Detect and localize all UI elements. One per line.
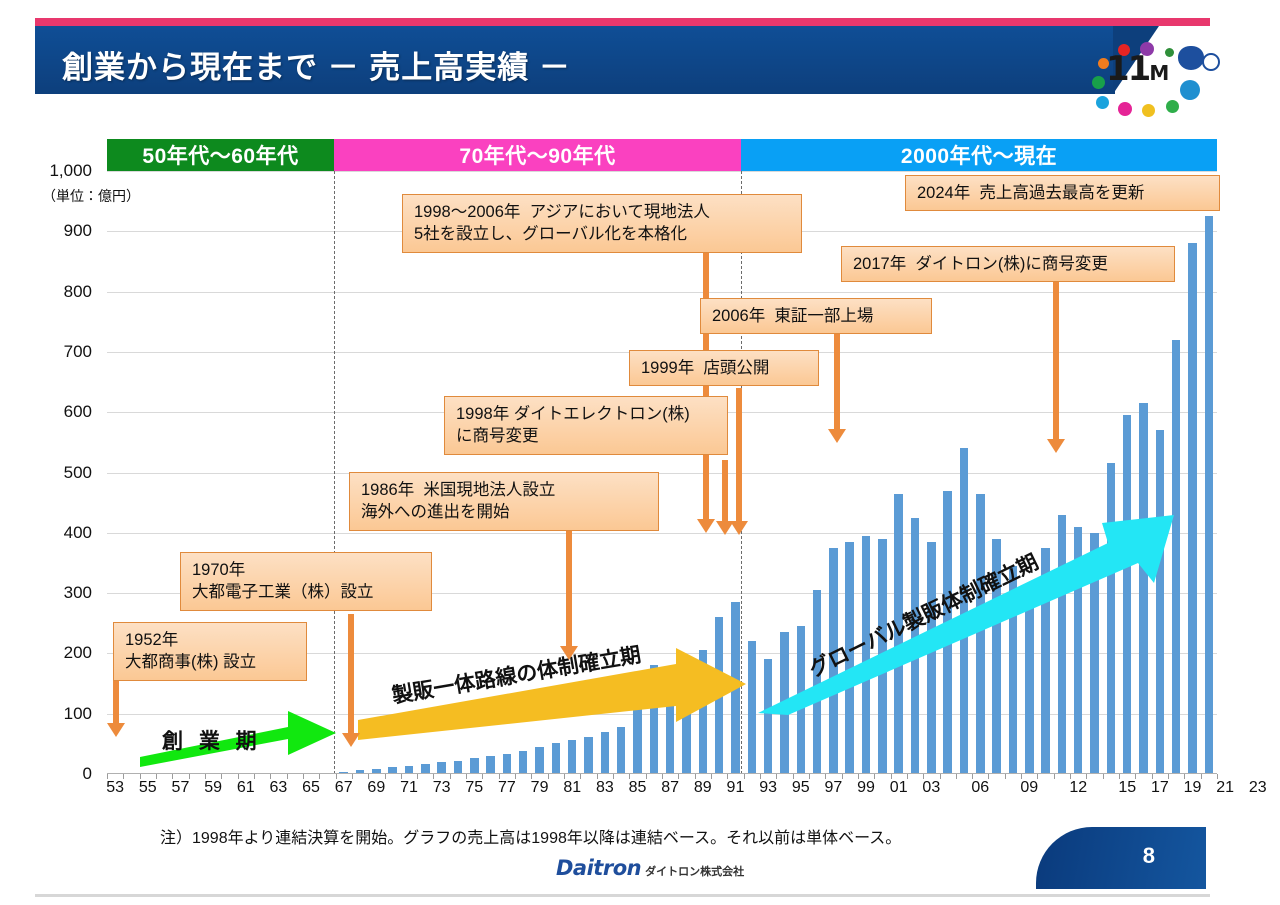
x-axis-tick-label: 61 xyxy=(237,779,255,797)
x-axis-tick-label: 17 xyxy=(1151,779,1169,797)
header-accent-bar xyxy=(35,18,1210,26)
x-axis-tick-label: 23 xyxy=(1249,779,1267,797)
era-label: 2000年代～現在 xyxy=(901,140,1057,170)
gridline xyxy=(107,171,1217,172)
phase-arrow-global: グローバル製販体制確立期 xyxy=(758,505,1178,720)
x-axis-tick-label: 79 xyxy=(531,779,549,797)
logo-dot-blue xyxy=(1180,80,1200,100)
slide: 創業から現在まで － 売上高実績 － 11M 50年代～60年代 70年代～90… xyxy=(0,0,1280,905)
x-axis-tick-label: 09 xyxy=(1020,779,1038,797)
footnote: 注）1998年より連結決算を開始。グラフの売上高は1998年以降は連結ベース。そ… xyxy=(160,824,901,848)
logo-dot-cyan xyxy=(1096,96,1109,109)
x-axis-tick-label: 19 xyxy=(1184,779,1202,797)
logo-wordmark: 11M xyxy=(1106,49,1167,89)
bar xyxy=(454,761,462,774)
callout-1998-asia[interactable]: 1998～2006年 アジアにおいて現地法人 5社を設立し、グローバル化を本格化 xyxy=(402,194,802,253)
leader-2006 xyxy=(834,334,840,430)
callout-1986[interactable]: 1986年 米国現地法人設立 海外への進出を開始 xyxy=(349,472,659,531)
bar xyxy=(535,747,543,774)
callout-1970[interactable]: 1970年 大都電子工業（株）設立 xyxy=(180,552,432,611)
era-label: 50年代～60年代 xyxy=(142,140,298,170)
callout-1952[interactable]: 1952年 大都商事(株) 設立 xyxy=(113,622,307,681)
leader-1998 xyxy=(722,460,728,522)
x-axis-tick-label: 85 xyxy=(629,779,647,797)
y-axis-tick-label: 900 xyxy=(2,221,92,241)
phase-label-founding: 創 業 期 xyxy=(162,725,262,755)
logo-dot-green xyxy=(1092,76,1105,89)
x-axis-tickmark xyxy=(1103,774,1104,779)
logo-mascot-ear xyxy=(1202,53,1220,71)
bar xyxy=(519,751,527,774)
x-axis-tick-label: 77 xyxy=(498,779,516,797)
y-axis-tick-label: 400 xyxy=(2,523,92,543)
footer-divider xyxy=(35,894,1210,897)
x-axis-tick-label: 65 xyxy=(302,779,320,797)
x-axis-tick-label: 57 xyxy=(172,779,190,797)
callout-1998[interactable]: 1998年 ダイトエレクトロン(株) に商号変更 xyxy=(444,396,728,455)
company-wordmark: Daitron xyxy=(556,856,641,880)
era-banner-1950s: 50年代～60年代 xyxy=(107,139,334,171)
x-axis-tick-label: 83 xyxy=(596,779,614,797)
company-name-jp: ダイトロン株式会社 xyxy=(645,866,744,878)
x-axis-tick-label: 53 xyxy=(106,779,124,797)
x-axis-tick-label: 99 xyxy=(857,779,875,797)
leader-1999 xyxy=(736,388,742,522)
page-title: 創業から現在まで － 売上高実績 － xyxy=(62,42,571,87)
y-axis-tick-label: 200 xyxy=(2,643,92,663)
x-axis-tick-label: 63 xyxy=(269,779,287,797)
logo-mascot-head xyxy=(1178,46,1204,70)
page-number-tab xyxy=(1036,827,1206,889)
x-axis-tick-label: 91 xyxy=(727,779,745,797)
x-axis-tick-label: 06 xyxy=(971,779,989,797)
x-axis-tick-label: 97 xyxy=(824,779,842,797)
x-axis-tick-label: 81 xyxy=(563,779,581,797)
y-axis-tick-label: 300 xyxy=(2,583,92,603)
gridline xyxy=(107,292,1217,293)
x-axis-tick-label: 93 xyxy=(759,779,777,797)
y-axis-tick-label: 1,000 xyxy=(2,161,92,181)
gridline xyxy=(107,473,1217,474)
y-axis-tick-label: 100 xyxy=(2,704,92,724)
era-banner-1970s: 70年代～90年代 xyxy=(334,139,741,171)
x-axis-tick-label: 75 xyxy=(465,779,483,797)
x-axis-tickmark xyxy=(956,774,957,779)
x-axis-tick-label: 71 xyxy=(400,779,418,797)
callout-1999[interactable]: 1999年 店頭公開 xyxy=(629,350,819,386)
x-axis-tick-label: 15 xyxy=(1118,779,1136,797)
x-axis-tick-label: 87 xyxy=(661,779,679,797)
x-axis-tick-label: 73 xyxy=(433,779,451,797)
bar xyxy=(748,641,756,774)
phase-arrow-seihan: 製販一体路線の体制確立期 xyxy=(358,648,748,745)
logo-dot-yellow xyxy=(1142,104,1155,117)
bar xyxy=(470,758,478,774)
x-axis-tick-label: 69 xyxy=(367,779,385,797)
x-axis-tick-label: 59 xyxy=(204,779,222,797)
logo-dot-magenta xyxy=(1118,102,1132,116)
bar xyxy=(503,754,511,774)
bar xyxy=(552,743,560,774)
callout-2006[interactable]: 2006年 東証一部上場 xyxy=(700,298,932,334)
y-axis-tick-label: 600 xyxy=(2,402,92,422)
x-axis-tickmark xyxy=(1005,774,1006,779)
bar xyxy=(1188,243,1196,774)
x-axis-tick-label: 89 xyxy=(694,779,712,797)
x-axis-tick-label: 55 xyxy=(139,779,157,797)
x-axis-tick-label: 12 xyxy=(1069,779,1087,797)
y-axis-tick-label: 0 xyxy=(2,764,92,784)
x-axis-tick-label: 01 xyxy=(890,779,908,797)
phase-arrow-founding: 創 業 期 xyxy=(140,705,340,772)
bar xyxy=(486,756,494,774)
callout-2024[interactable]: 2024年 売上高過去最高を更新 xyxy=(905,175,1220,211)
callout-2017[interactable]: 2017年 ダイトロン(株)に商号変更 xyxy=(841,246,1175,282)
x-axis-tick-label: 21 xyxy=(1216,779,1234,797)
page-number: 8 xyxy=(1143,843,1155,869)
x-axis-tickmark xyxy=(1054,774,1055,779)
y-axis-tick-label: 500 xyxy=(2,463,92,483)
era-banner-2000s: 2000年代～現在 xyxy=(741,139,1217,171)
x-axis-tick-label: 03 xyxy=(922,779,940,797)
leader-1986 xyxy=(566,527,572,647)
company-logo: Daitronダイトロン株式会社 xyxy=(556,856,744,880)
era-label: 70年代～90年代 xyxy=(459,140,615,170)
era-divider-1 xyxy=(334,171,335,774)
bar xyxy=(1205,216,1213,774)
x-axis-tick-label: 95 xyxy=(792,779,810,797)
11m-logo: 11M xyxy=(1078,36,1213,98)
leader-1970 xyxy=(348,614,354,734)
y-axis-tick-label: 700 xyxy=(2,342,92,362)
x-axis-tick-label: 67 xyxy=(335,779,353,797)
logo-dot-green2 xyxy=(1166,100,1179,113)
y-axis-tick-label: 800 xyxy=(2,282,92,302)
leader-2017 xyxy=(1053,282,1059,440)
